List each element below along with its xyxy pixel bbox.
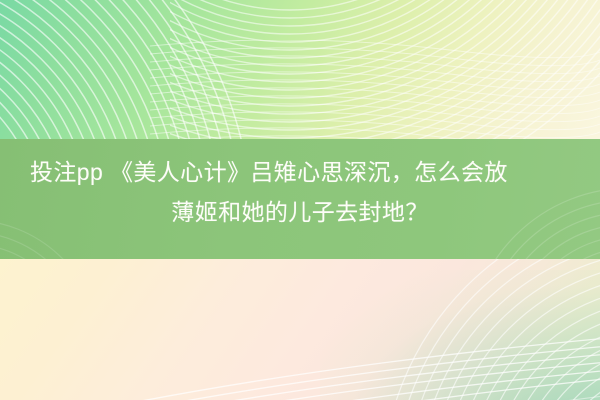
banner-title: 投注pp 《美人心计》吕雉心思深沉，怎么会放 薄姬和她的儿子去封地？ (0, 152, 600, 232)
top-right-arc-pattern-icon (170, 0, 600, 140)
top-gradient-panel (0, 0, 600, 140)
top-left-arc-pattern-icon (0, 0, 270, 140)
top-fine-wave-lines-icon (150, 40, 600, 140)
banner-title-line-1: 投注pp 《美人心计》吕雉心思深沉，怎么会放 (18, 152, 582, 192)
bottom-gradient-panel (0, 259, 600, 400)
banner-title-line-2: 薄姬和她的儿子去封地？ (18, 192, 582, 232)
bottom-teal-accent (320, 270, 600, 400)
banner-image: 投注pp 《美人心计》吕雉心思深沉，怎么会放 薄姬和她的儿子去封地？ (0, 0, 600, 400)
